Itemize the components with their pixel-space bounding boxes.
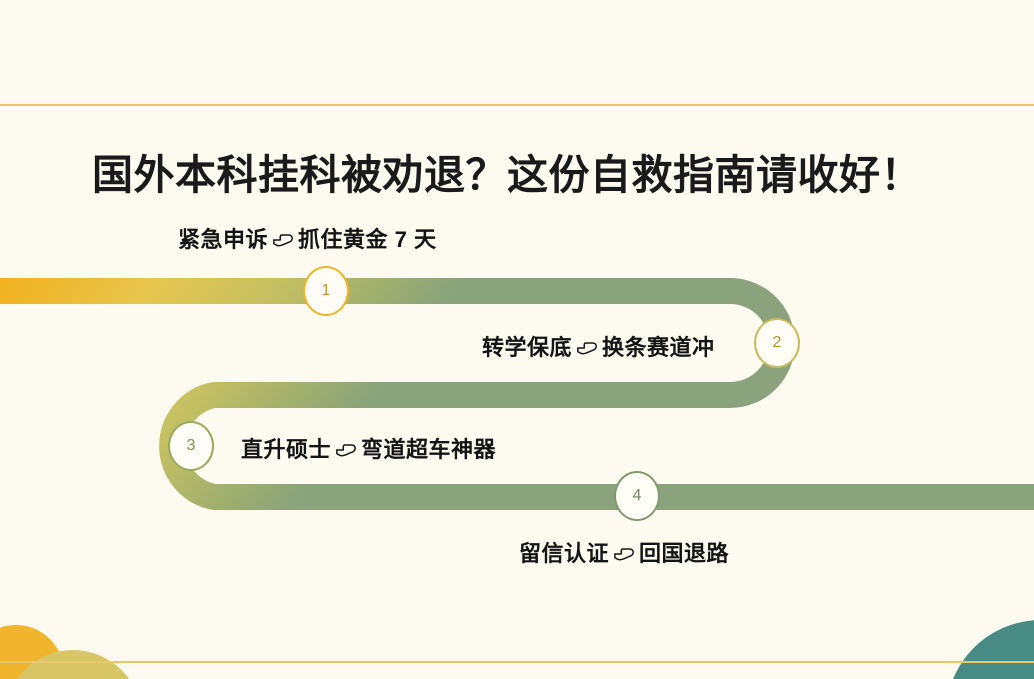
roadmap-label-3-lead: 直升硕士: [241, 432, 331, 464]
page-title: 国外本科挂科被劝退？这份自救指南请收好！: [92, 151, 952, 200]
pointing-hand-icon: [575, 337, 599, 359]
roadmap-node-3-number: 3: [187, 437, 196, 455]
roadmap-node-4-number: 4: [633, 487, 642, 505]
divider-line-bottom: [0, 661, 1034, 663]
roadmap-label-1-tail: 抓住黄金 7 天: [298, 222, 436, 254]
pointing-hand-icon: [334, 439, 358, 461]
pointing-hand-icon: [612, 543, 636, 565]
roadmap-label-4: 留信认证 回国退路: [519, 536, 729, 568]
roadmap-label-2-lead: 转学保底: [482, 330, 572, 362]
roadmap-label-2-tail: 换条赛道冲: [602, 330, 715, 362]
roadmap-label-1-lead: 紧急申诉: [178, 222, 268, 254]
roadmap-node-2[interactable]: 2: [754, 318, 800, 368]
roadmap-label-4-lead: 留信认证: [519, 536, 609, 568]
roadmap-label-3-tail: 弯道超车神器: [361, 432, 496, 464]
roadmap-label-1: 紧急申诉 抓住黄金 7 天: [178, 222, 436, 254]
roadmap-label-4-tail: 回国退路: [639, 536, 729, 568]
roadmap-node-1[interactable]: 1: [303, 266, 349, 316]
roadmap-node-4[interactable]: 4: [614, 471, 660, 521]
divider-line-top: [0, 104, 1034, 106]
pointing-hand-icon: [271, 229, 295, 251]
roadmap-node-1-number: 1: [322, 282, 331, 300]
roadmap-label-3: 直升硕士 弯道超车神器: [241, 432, 496, 464]
roadmap-label-2: 转学保底 换条赛道冲: [482, 330, 715, 362]
slide-canvas: 国外本科挂科被劝退？这份自救指南请收好！ 1 2 3 4 紧急申诉: [0, 0, 1034, 679]
roadmap-node-3[interactable]: 3: [168, 421, 214, 471]
roadmap-node-2-number: 2: [773, 334, 782, 352]
